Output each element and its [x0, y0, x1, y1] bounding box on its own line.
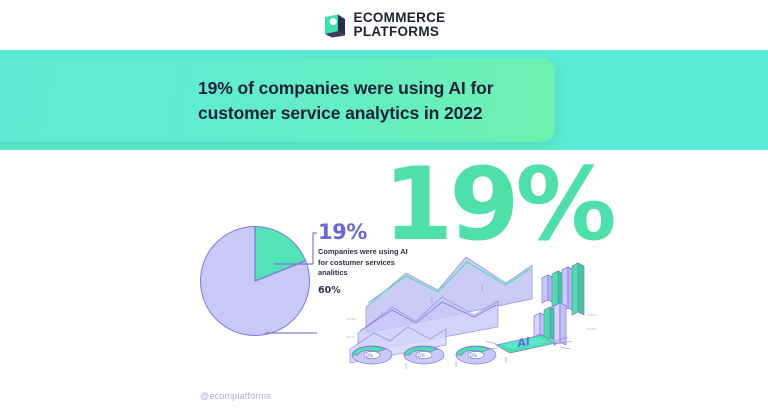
logo-line-1: ECOMMERCE — [354, 11, 446, 25]
analytics-illustration: AI 0% — [346, 245, 596, 370]
callout-primary-value: 19% — [318, 222, 413, 243]
svg-text:AI: AI — [515, 335, 530, 350]
infographic-stage: 19% 19% Companies were using AI for cost… — [0, 150, 768, 415]
brand-logo[interactable]: ECOMMERCE PLATFORMS — [323, 11, 446, 39]
logo-line-2: PLATFORMS — [354, 25, 446, 39]
headline-banner: 19% of companies were using AI for custo… — [0, 50, 768, 150]
illustration-svg: AI 0% — [346, 245, 596, 370]
page-header: ECOMMERCE PLATFORMS — [0, 0, 768, 50]
svg-text:0%: 0% — [470, 353, 478, 359]
page-title: 19% of companies were using AI for custo… — [198, 76, 558, 126]
pie-leader-lines — [255, 230, 325, 320]
big-stat-value: 19% — [383, 158, 613, 251]
logo-mark-icon — [323, 13, 347, 38]
svg-text:0%: 0% — [366, 353, 374, 359]
svg-text:0%: 0% — [418, 353, 426, 359]
gauge-icons: 0% 0% 0% — [352, 346, 496, 364]
social-handle[interactable]: @ecomplatforms — [200, 391, 271, 401]
logo-wordmark: ECOMMERCE PLATFORMS — [354, 11, 446, 39]
callout-secondary-value: 60% — [318, 285, 341, 296]
